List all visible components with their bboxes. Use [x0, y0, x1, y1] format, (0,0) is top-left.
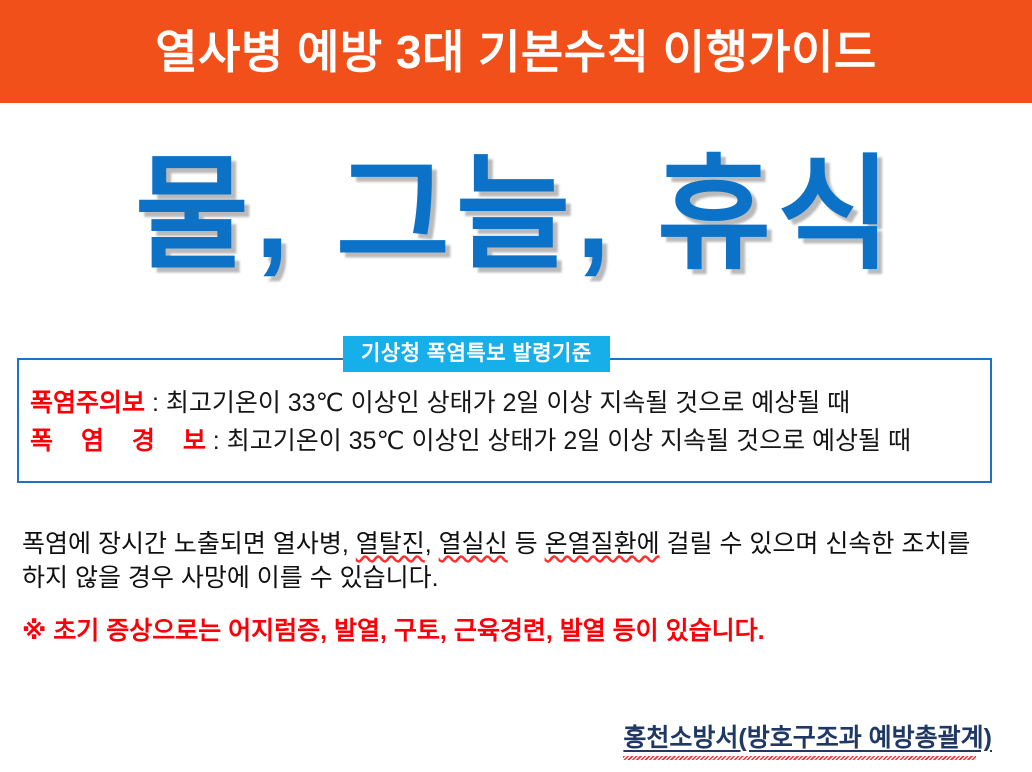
page-title: 열사병 예방 3대 기본수칙 이행가이드 — [155, 29, 877, 75]
criteria-separator-warning: : — [206, 427, 227, 455]
early-symptoms-warning: ※ 초기 증상으로는 어지럼증, 발열, 구토, 근육경련, 발열 등이 있습니… — [22, 611, 765, 647]
criteria-badge: 기상청 폭염특보 발령기준 — [343, 336, 610, 372]
criteria-row-list: 폭염주의보 : 최고기온이 33℃ 이상인 상태가 2일 이상 지속될 것으로 … — [30, 384, 982, 460]
heat-advisory-criteria-box: 기상청 폭염특보 발령기준 폭염주의보 : 최고기온이 33℃ 이상인 상태가 … — [17, 358, 992, 483]
footer-credit-area: 홍천소방서(방호구조과 예방총괄계) — [0, 718, 992, 754]
hero-headline-area: 물, 그늘, 휴식 — [0, 150, 1032, 280]
spellcheck-term-yeoltaljin: 열탈진 — [356, 530, 425, 558]
criteria-separator-advisory: : — [145, 389, 166, 417]
criteria-row: 폭 염 경 보 : 최고기온이 35℃ 이상인 상태가 2일 이상 지속될 것으… — [30, 422, 982, 460]
body-paragraph: 폭염에 장시간 노출되면 열사병, 열탈진, 열실신 등 온열질환에 걸릴 수 … — [22, 527, 992, 595]
header-banner: 열사병 예방 3대 기본수칙 이행가이드 — [0, 0, 1032, 103]
body-text-segment: 등 — [508, 530, 545, 558]
criteria-label-warning: 폭 염 경 보 — [30, 427, 216, 455]
criteria-row: 폭염주의보 : 최고기온이 33℃ 이상인 상태가 2일 이상 지속될 것으로 … — [30, 384, 982, 422]
footer-credit: 홍천소방서(방호구조과 예방총괄계) — [623, 718, 992, 754]
body-text-segment: 폭염에 장시간 노출되면 열사병, — [22, 530, 356, 558]
criteria-label-advisory: 폭염주의보 — [30, 389, 145, 417]
spellcheck-term-yeolsilsin: 열실신 — [439, 530, 508, 558]
body-text-segment: , — [425, 530, 439, 558]
spellcheck-term-onyeoljilhwan: 온열질환에 — [545, 530, 660, 558]
criteria-description-warning: 최고기온이 35℃ 이상인 상태가 2일 이상 지속될 것으로 예상될 때 — [227, 427, 911, 455]
hero-headline: 물, 그늘, 휴식 — [135, 150, 897, 280]
criteria-description-advisory: 최고기온이 33℃ 이상인 상태가 2일 이상 지속될 것으로 예상될 때 — [166, 389, 850, 417]
